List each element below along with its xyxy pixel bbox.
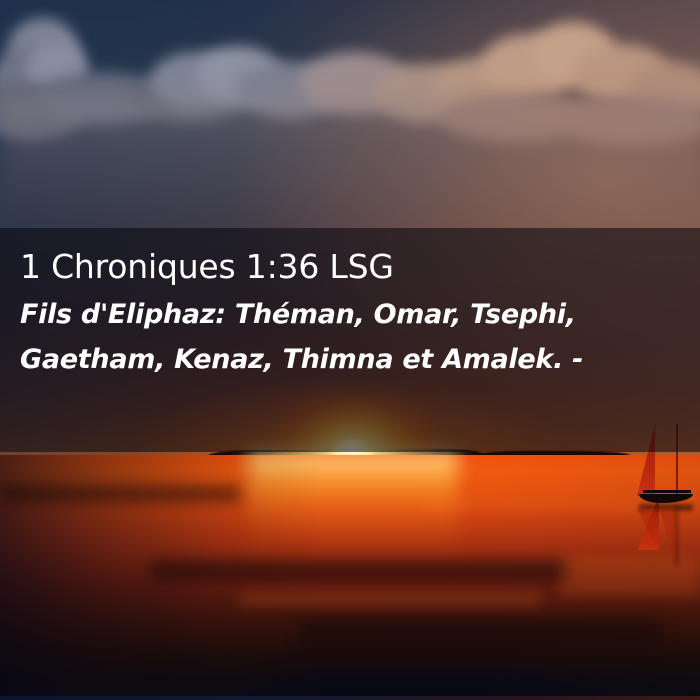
verse-text: Fils d'Eliphaz: Théman, Omar, Tsephi, Ga…	[20, 292, 682, 382]
bottom-edge-strip	[0, 696, 700, 700]
boom	[643, 490, 691, 493]
water-dark-streak	[0, 486, 240, 502]
water-dark-streak	[150, 560, 570, 582]
verse-text-block: 1 Chroniques 1:36 LSG Fils d'Eliphaz: Th…	[0, 228, 700, 452]
verse-line: Fils d'Eliphaz: Théman, Omar, Tsephi,	[20, 292, 682, 337]
water-bright-streak	[560, 556, 700, 596]
mast-reflection	[676, 506, 678, 566]
water-dark-streak	[300, 620, 660, 646]
water-bright-streak	[240, 592, 540, 606]
verse-line: Gaetham, Kenaz, Thimna et Amalek. -	[20, 337, 682, 382]
hull	[639, 494, 693, 503]
verse-reference: 1 Chroniques 1:36 LSG	[20, 246, 682, 288]
verse-image-canvas: 1 Chroniques 1:36 LSG Fils d'Eliphaz: Th…	[0, 0, 700, 700]
